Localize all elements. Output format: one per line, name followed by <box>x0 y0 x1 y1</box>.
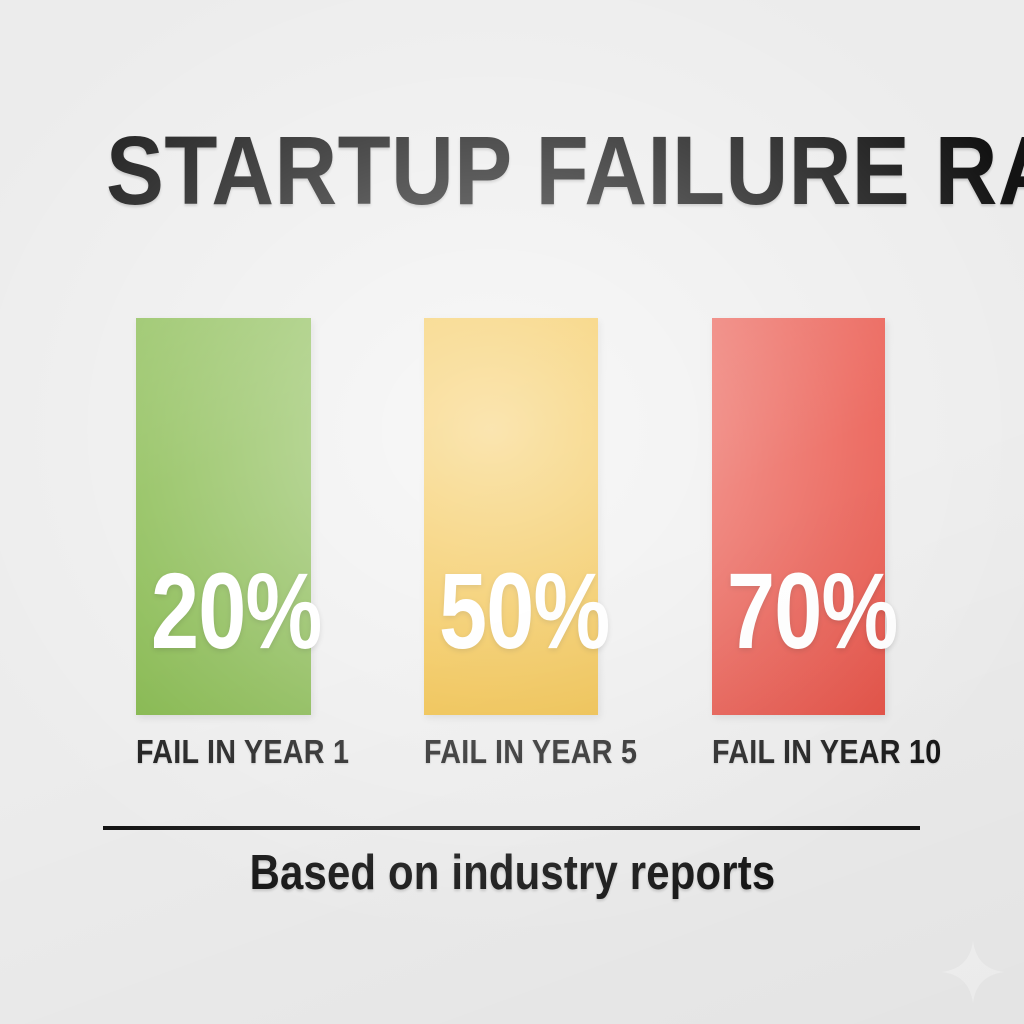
footer-note: Based on industry reports <box>0 845 1024 901</box>
bar-fail-in-year-5: 50% <box>424 318 598 715</box>
bar-value-label-1: 50% <box>439 569 610 653</box>
bar-fail-in-year-1: 20% <box>136 318 311 715</box>
bar-chart-plot: 20% 50% 70% <box>0 318 1024 718</box>
bar-fail-in-year-10: 70% <box>712 318 885 715</box>
bar-value-label-0: 20% <box>151 569 322 653</box>
category-label-fail-in-year-5: FAIL IN YEAR 5 <box>424 735 628 769</box>
category-label-fail-in-year-10: FAIL IN YEAR 10 <box>712 735 915 769</box>
category-label-fail-in-year-1: FAIL IN YEAR 1 <box>136 735 340 769</box>
footer-divider <box>103 826 920 830</box>
sparkle-icon <box>942 941 1004 1003</box>
bar-value-label-2: 70% <box>727 569 898 653</box>
page-title: STARTUP FAILURE RATES <box>106 121 858 221</box>
infographic-poster: STARTUP FAILURE RATES 20% 50% 70% FAIL I… <box>0 0 1024 1024</box>
footer-note-text: Based on industry reports <box>249 845 775 901</box>
